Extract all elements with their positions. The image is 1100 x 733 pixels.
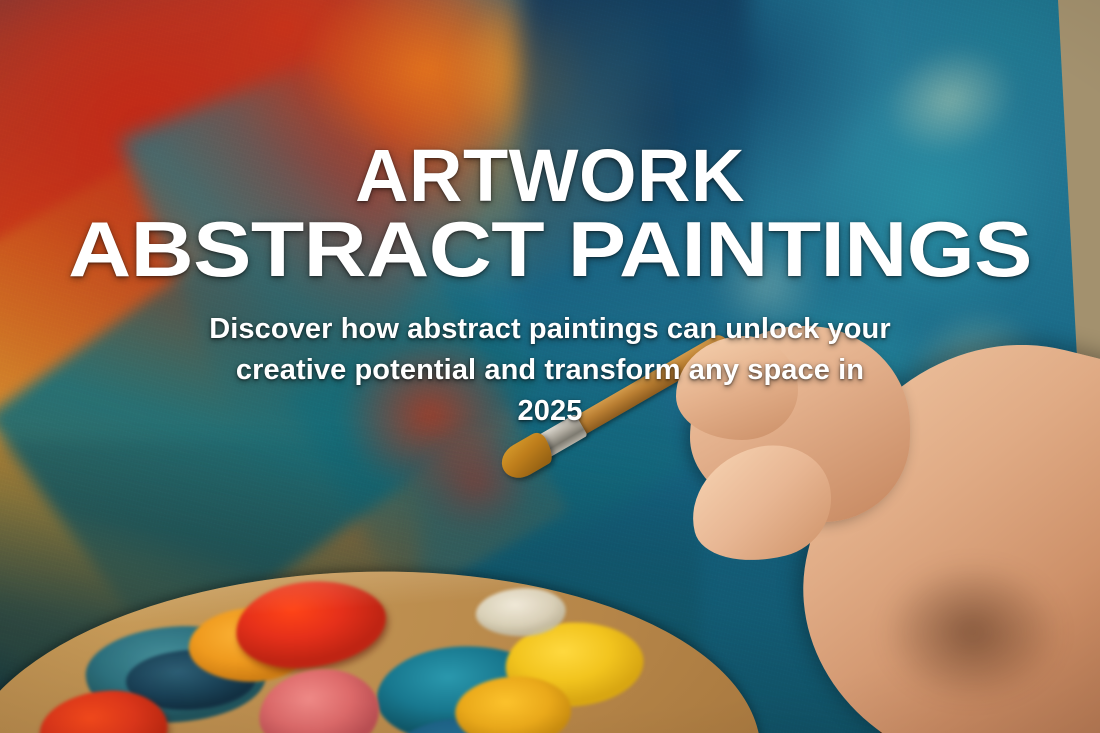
- hand-wrist-shading: [880, 560, 1100, 733]
- hero-banner: ARTWORK ABSTRACT PAINTINGS Discover how …: [0, 0, 1100, 733]
- palette-blob-red-large: [235, 579, 388, 670]
